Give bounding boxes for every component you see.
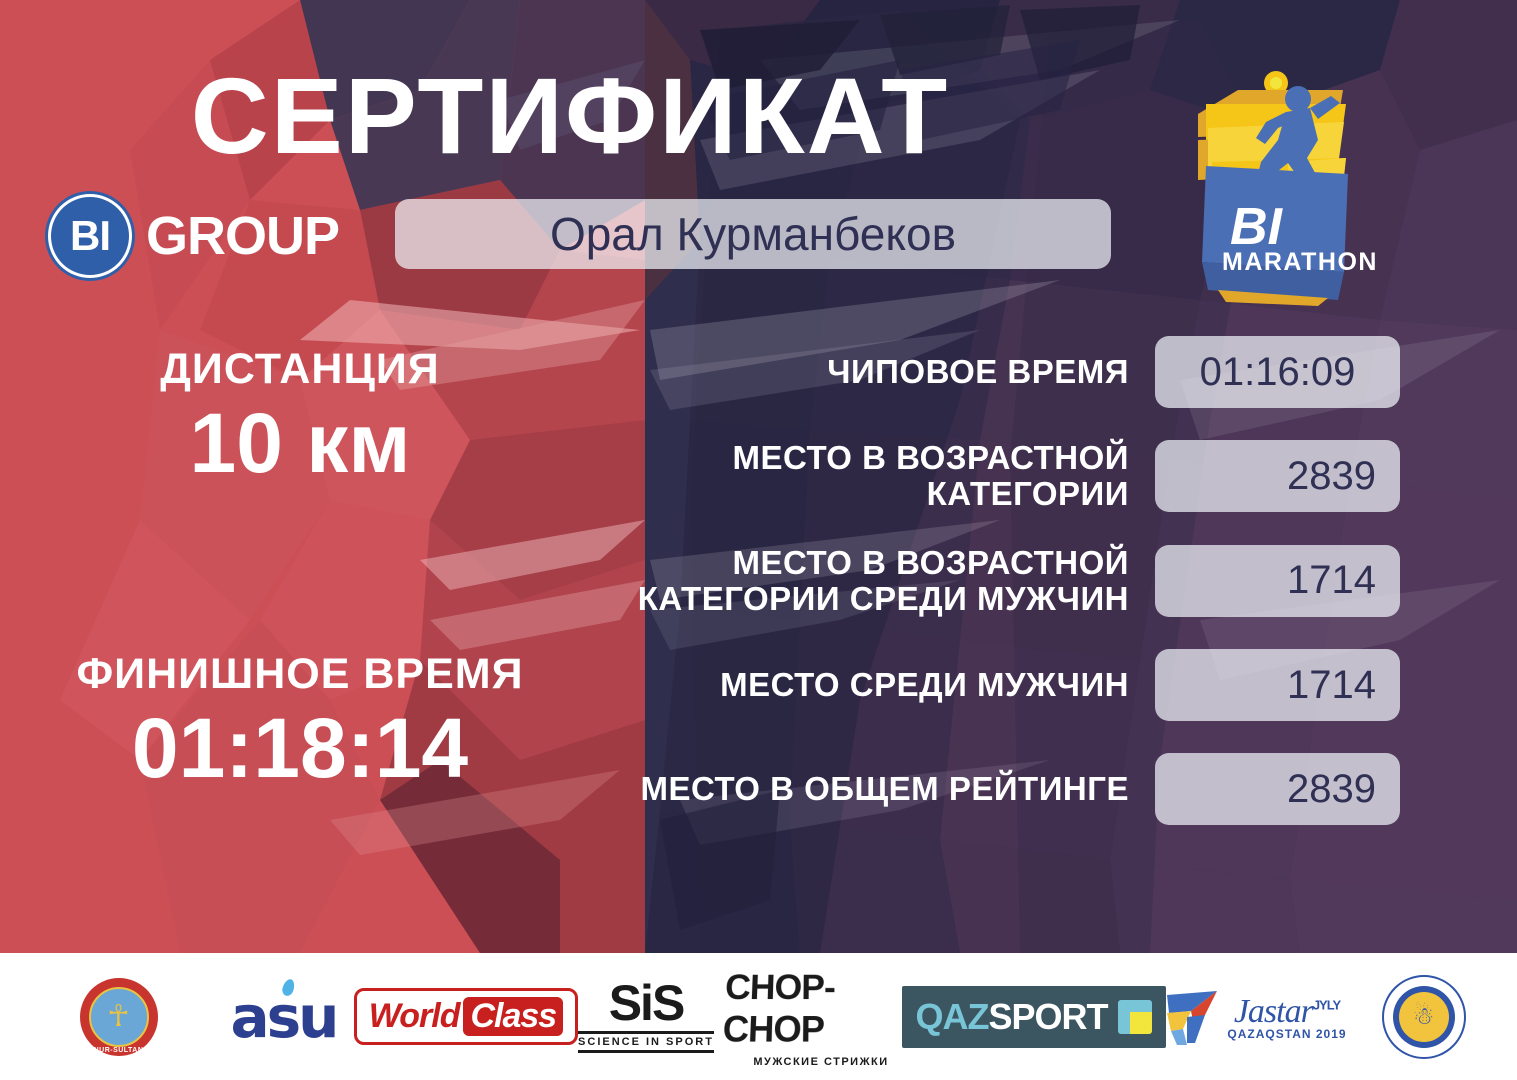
page-title: СЕРТИФИКАТ [0,62,1140,170]
stat-chip: 2839 [1155,753,1400,825]
certificate-canvas: СЕРТИФИКАТ BI GROUP Орал Курманбеков [0,0,1517,1080]
stat-chip: 2839 [1155,440,1400,512]
finish-time-label: ФИНИШНОЕ ВРЕМЯ [40,650,560,698]
asu-wordmark: asu [231,983,337,1051]
distance-value: 10 км [40,399,560,487]
qazsport-mark-icon [1118,1000,1152,1034]
stat-value: 2839 [1287,454,1376,499]
bi-group-wordmark: GROUP [146,205,339,267]
jastar-logo: JastarJYLY QAZAQSTAN 2019 [1165,987,1346,1047]
qazsport-wordmark: QAZ SPORT [902,986,1166,1048]
sponsor-nur-sultan-emblem: ☥ NUR-SULTAN [34,967,204,1067]
emblem-bird-icon: ☥ [107,1002,129,1032]
sponsor-world-class: World Class [364,967,569,1067]
stat-row: МЕСТО В ВОЗРАСТНОЙ КАТЕГОРИИ СРЕДИ МУЖЧИ… [600,545,1400,618]
seal-inner-figure-icon: ☃ [1399,992,1449,1042]
sponsor-strip: ☥ NUR-SULTAN asu World Class SiS SCIENCE… [0,953,1517,1080]
nur-sultan-emblem-icon: ☥ NUR-SULTAN [80,978,158,1056]
marathon-sub-text: MARATHON [1222,248,1378,276]
stat-value: 1714 [1287,663,1376,708]
bi-group-logo: BI GROUP [48,194,339,278]
sponsor-sis: SiS SCIENCE IN SPORT [569,967,724,1067]
sponsor-qazsport: QAZ SPORT [919,967,1149,1067]
jastar-sup: JYLY [1313,997,1340,1012]
world-class-wordmark: World Class [354,988,578,1045]
chop-chop-subtext: МУЖСКИЕ СТРИЖКИ [753,1056,888,1068]
emblem-caption: NUR-SULTAN [80,1047,158,1054]
sis-subtext: SCIENCE IN SPORT [578,1031,714,1053]
stat-row: МЕСТО В ВОЗРАСТНОЙ КАТЕГОРИИ 2839 [600,440,1400,513]
sponsor-ministry-seal: ☃ [1364,967,1484,1067]
chop-chop-text: CHOP-CHOP [721,967,921,1051]
finish-time-value: 01:18:14 [40,704,560,792]
stat-label: МЕСТО В ВОЗРАСТНОЙ КАТЕГОРИИ [600,440,1155,513]
stat-row: МЕСТО СРЕДИ МУЖЧИН 1714 [600,649,1400,721]
stat-label: МЕСТО СРЕДИ МУЖЧИН [600,667,1155,703]
jastar-text: JastarJYLY [1234,993,1340,1031]
stat-value: 1714 [1287,558,1376,603]
jastar-arrow-icon [1165,987,1221,1047]
participant-name-bar: Орал Курманбеков [395,199,1111,269]
stat-value: 2839 [1287,767,1376,812]
qazsport-word2: SPORT [989,996,1108,1038]
finish-time-block: ФИНИШНОЕ ВРЕМЯ 01:18:14 [40,650,560,792]
world-class-word1: World [369,997,460,1036]
bi-badge-icon: BI [48,194,132,278]
qazsport-word1: QAZ [916,996,989,1038]
stat-row: МЕСТО В ОБЩЕМ РЕЙТИНГЕ 2839 [600,753,1400,825]
bi-marathon-logo: BI MARATHON [1168,62,1383,307]
stats-list: ЧИПОВОЕ ВРЕМЯ 01:16:09 МЕСТО В ВОЗРАСТНО… [600,336,1400,825]
stat-chip: 1714 [1155,649,1400,721]
distance-label: ДИСТАНЦИЯ [40,345,560,393]
ministry-seal-icon: ☃ [1382,975,1466,1059]
stat-row: ЧИПОВОЕ ВРЕМЯ 01:16:09 [600,336,1400,408]
stat-chip: 01:16:09 [1155,336,1400,408]
sis-text: SiS [609,980,684,1028]
distance-block: ДИСТАНЦИЯ 10 км [40,345,560,487]
sis-wordmark: SiS SCIENCE IN SPORT [578,980,714,1053]
sponsor-chop-chop: CHOP-CHOP МУЖСКИЕ СТРИЖКИ [724,967,919,1067]
stat-value: 01:16:09 [1200,350,1356,395]
jastar-text-block: JastarJYLY QAZAQSTAN 2019 [1227,993,1346,1041]
stat-chip: 1714 [1155,545,1400,617]
stat-label: МЕСТО В ВОЗРАСТНОЙ КАТЕГОРИИ СРЕДИ МУЖЧИ… [600,545,1155,618]
stat-label: ЧИПОВОЕ ВРЕМЯ [600,354,1155,390]
stat-label: МЕСТО В ОБЩЕМ РЕЙТИНГЕ [600,771,1155,807]
sponsor-asu: asu [204,967,364,1067]
world-class-word2: Class [463,997,563,1036]
sponsor-jastar: JastarJYLY QAZAQSTAN 2019 [1149,967,1364,1067]
chop-chop-wordmark: CHOP-CHOP МУЖСКИЕ СТРИЖКИ [724,966,919,1068]
participant-name: Орал Курманбеков [550,207,956,261]
